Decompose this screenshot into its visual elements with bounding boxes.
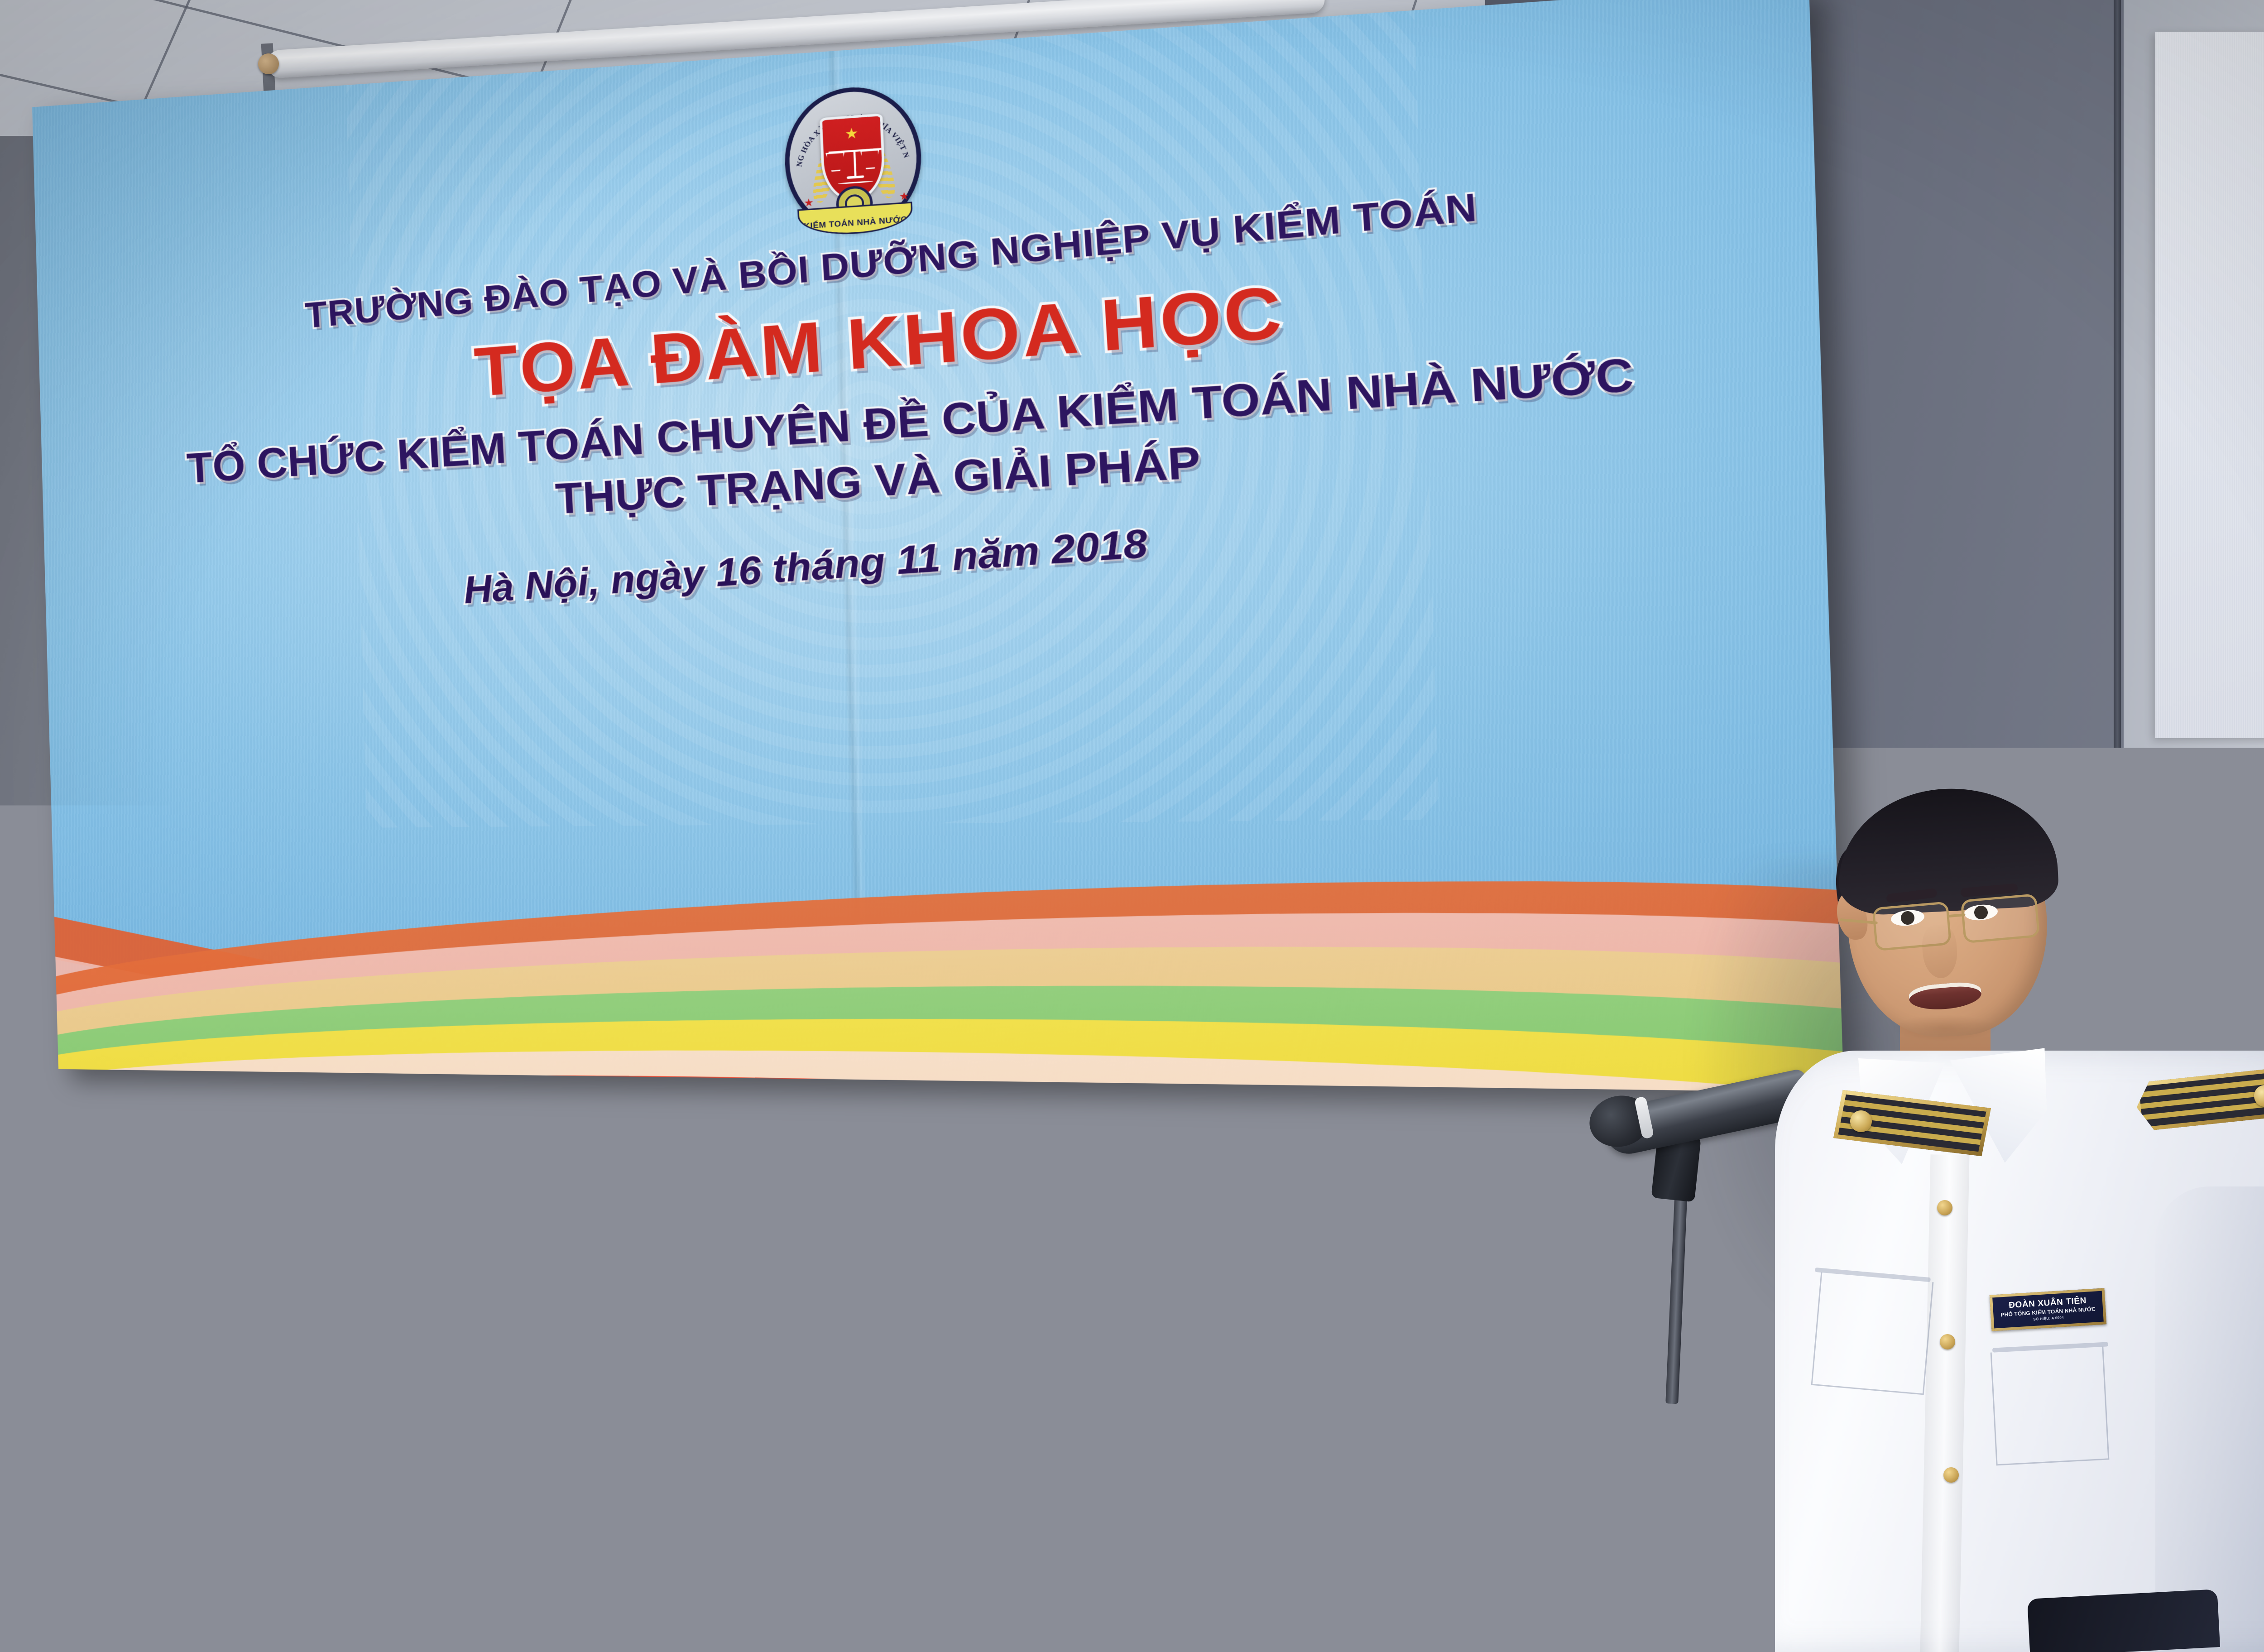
scale-post: [854, 150, 857, 178]
state-audit-emblem: CỘNG HÒA XÃ HỘI CHỦ NGHĨA VIỆT NAM ★ ★ ★: [782, 82, 924, 236]
lectern-podium: [1014, 1223, 2237, 1652]
blind-seam: [671, 1041, 675, 1652]
event-banner: CỘNG HÒA XÃ HỘI CHỦ NGHĨA VIỆT NAM ★ ★ ★: [32, 0, 1844, 1092]
roller-blind-left[interactable]: [254, 1037, 670, 1652]
shirt-button-1: [1937, 1200, 1952, 1215]
emblem-star-right: ★: [899, 193, 905, 200]
scale-pan-right: [860, 149, 880, 170]
lens-right: [1961, 893, 2040, 943]
projection-screen: [2155, 32, 2264, 738]
emblem-star-left: ★: [804, 200, 810, 206]
roller-end-cap: [258, 53, 279, 74]
conference-photo-scene: CỘNG HÒA XÃ HỘI CHỦ NGHĨA VIỆT NAM ★ ★ ★: [0, 0, 2264, 1652]
blind-edge-left: [245, 1036, 251, 1652]
emblem-gold-star: ★: [844, 126, 859, 142]
scale-base: [847, 175, 864, 179]
scale-pan-left: [825, 152, 845, 173]
banner-date-line: Hà Nội, ngày 16 tháng 11 năm 2018: [462, 520, 1149, 613]
chin-shadow: [1893, 1014, 1997, 1042]
blind-pull-cord[interactable]: [657, 1046, 659, 1652]
epaulette-button-left: [1850, 1110, 1872, 1132]
scale-book: [838, 181, 873, 185]
